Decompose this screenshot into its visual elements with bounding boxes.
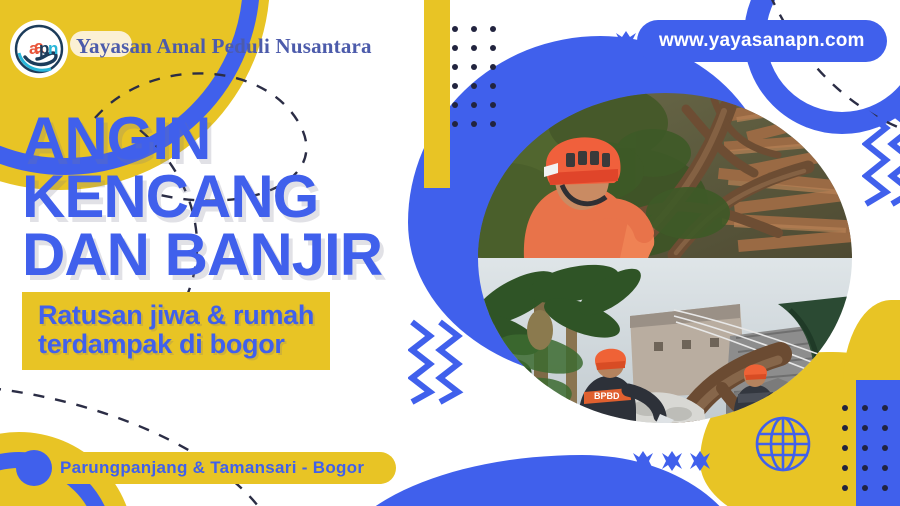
cross-mark-bottom-3: [687, 448, 713, 474]
headline-line-3: DAN BANJIR: [22, 226, 452, 284]
website-url-text: www.yayasanapn.com: [659, 30, 865, 52]
cross-mark-bottom-1: [630, 448, 656, 474]
page-title: ANGIN KENCANG DAN BANJIR: [22, 110, 452, 285]
svg-text:a: a: [29, 39, 39, 58]
location-banner-dot: [16, 450, 52, 486]
website-url-pill[interactable]: www.yayasanapn.com: [637, 20, 887, 62]
cross-mark-bottom-2: [659, 448, 685, 474]
svg-text:n: n: [48, 39, 58, 58]
location-banner: Parungpanjang & Tamansari - Bogor: [18, 452, 396, 484]
headline-line-2: KENCANG: [22, 168, 452, 226]
apn-logo[interactable]: a p a p n: [12, 22, 66, 76]
subtitle-line-1: Ratusan jiwa & rumah: [38, 301, 314, 330]
photo-collage-ellipse: BPBD: [478, 93, 852, 423]
photo-bottom-bpbd-workers: BPBD: [478, 258, 852, 423]
zigzag-left: [408, 318, 470, 406]
subtitle-line-2: terdampak di bogor: [38, 330, 314, 359]
photo-top-rescue-worker: [478, 93, 852, 258]
headline-line-1: ANGIN: [22, 110, 452, 168]
globe-icon: [753, 414, 813, 474]
poster-canvas: BPBD: [0, 0, 900, 506]
subtitle-box: Ratusan jiwa & rumah terdampak di bogor: [22, 292, 330, 370]
location-banner-text: Parungpanjang & Tamansari - Bogor: [60, 458, 364, 478]
dot-grid-bottom-right: [842, 405, 900, 505]
organization-name: Yayasan Amal Peduli Nusantara: [76, 30, 372, 62]
cross-mark-top-left: [613, 28, 639, 54]
zigzag-right: [862, 108, 900, 208]
svg-text:BPBD: BPBD: [594, 391, 620, 401]
